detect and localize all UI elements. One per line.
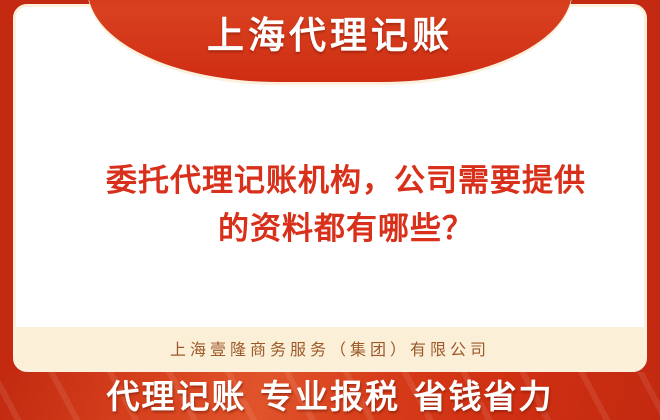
- headline-block: 委托代理记账机构，公司需要提供 的资料都有哪些？: [50, 157, 642, 253]
- promo-poster: 委托代理记账机构，公司需要提供 的资料都有哪些？ 上海壹隆商务服务（集团）有限公…: [0, 0, 660, 420]
- poster-white-card: 委托代理记账机构，公司需要提供 的资料都有哪些？ 上海壹隆商务服务（集团）有限公…: [13, 4, 647, 372]
- slogan-text: 代理记账 专业报税 省钱省力: [0, 372, 660, 420]
- slogan-bar: 代理记账 专业报税 省钱省力: [0, 372, 660, 420]
- headline-line-1: 委托代理记账机构，公司需要提供: [50, 157, 642, 205]
- company-name: 上海壹隆商务服务（集团）有限公司: [170, 336, 490, 360]
- headline-line-2: 的资料都有哪些？: [50, 205, 642, 253]
- company-footer-band: 上海壹隆商务服务（集团）有限公司: [16, 327, 644, 369]
